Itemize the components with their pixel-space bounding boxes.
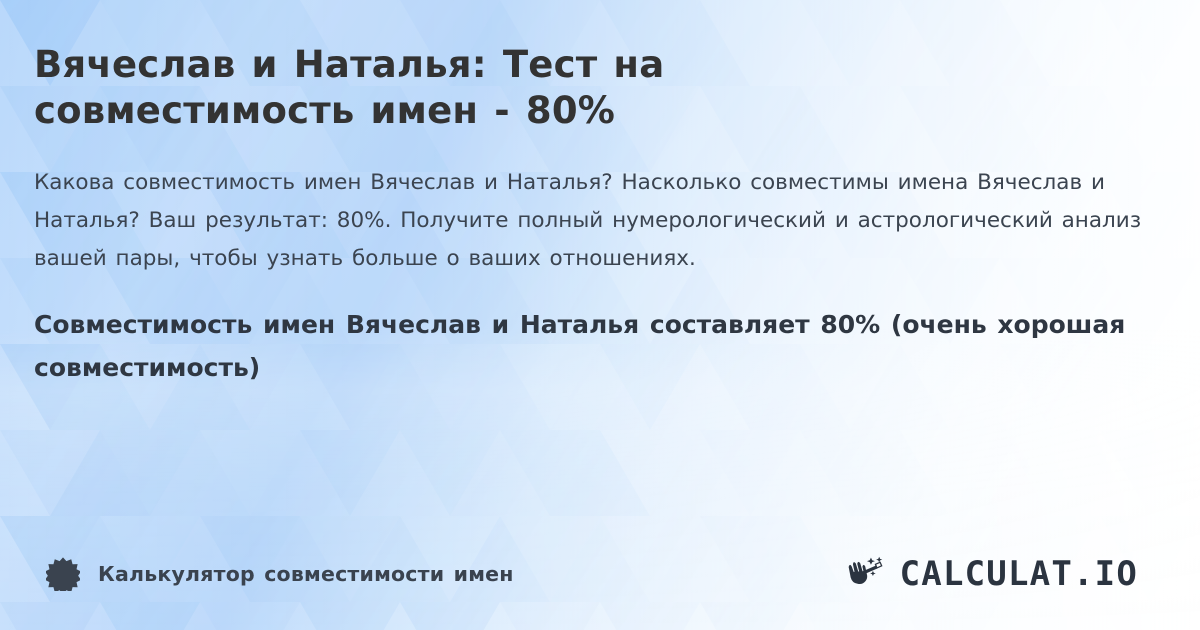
starburst-seal-icon	[46, 557, 80, 591]
card-footer: Калькулятор совместимости имен	[34, 556, 1166, 630]
content-spacer	[34, 389, 1166, 556]
page-title: Вячеслав и Наталья: Тест на совместимост…	[34, 42, 914, 134]
site-brand: Калькулятор совместимости имен	[46, 557, 514, 591]
site-brand-label: Калькулятор совместимости имен	[98, 562, 514, 586]
share-card: Вячеслав и Наталья: Тест на совместимост…	[0, 0, 1200, 630]
compatibility-verdict: Совместимость имен Вячеслав и Наталья со…	[34, 303, 1144, 389]
description-text: Какова совместимость имен Вячеслав и Нат…	[34, 164, 1159, 278]
logo-wordmark: CALCULAT.IO	[900, 557, 1138, 591]
card-content: Вячеслав и Наталья: Тест на совместимост…	[0, 0, 1200, 630]
logo-lockup[interactable]: CALCULAT.IO	[847, 556, 1154, 592]
magic-wand-icon	[847, 556, 891, 592]
